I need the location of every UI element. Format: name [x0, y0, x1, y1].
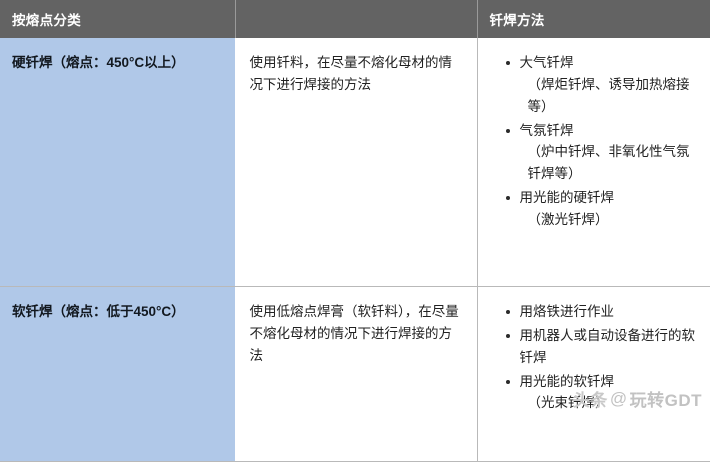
column-header-description: [235, 0, 477, 38]
table-header: 按熔点分类 钎焊方法: [0, 0, 710, 38]
method-main: 用烙铁进行作业: [520, 304, 615, 319]
table-row: 硬钎焊（熔点：450°C以上） 使用钎料，在尽量不熔化母材的情况下进行焊接的方法…: [0, 38, 710, 287]
cell-category: 硬钎焊（熔点：450°C以上）: [0, 38, 235, 287]
list-item: 用光能的硬钎焊 （激光钎焊）: [506, 187, 703, 231]
method-sub: （激光钎焊）: [520, 209, 703, 231]
column-header-method: 钎焊方法: [477, 0, 710, 38]
cell-methods: 大气钎焊 （焊炬钎焊、诱导加热熔接等） 气氛钎焊 （炉中钎焊、非氧化性气氛钎焊等…: [477, 38, 710, 287]
method-list: 大气钎焊 （焊炬钎焊、诱导加热熔接等） 气氛钎焊 （炉中钎焊、非氧化性气氛钎焊等…: [484, 52, 703, 231]
table-body: 硬钎焊（熔点：450°C以上） 使用钎料，在尽量不熔化母材的情况下进行焊接的方法…: [0, 38, 710, 462]
method-main: 用机器人或自动设备进行的软钎焊: [520, 328, 696, 365]
method-main: 气氛钎焊: [520, 123, 574, 138]
method-sub: （炉中钎焊、非氧化性气氛钎焊等）: [520, 141, 703, 185]
column-header-category: 按熔点分类: [0, 0, 235, 38]
method-main: 用光能的软钎焊: [520, 374, 615, 389]
table-header-row: 按熔点分类 钎焊方法: [0, 0, 710, 38]
method-main: 大气钎焊: [520, 55, 574, 70]
method-main: 用光能的硬钎焊: [520, 190, 615, 205]
table-row: 软钎焊（熔点：低于450°C） 使用低熔点焊膏（软钎料），在尽量不熔化母材的情况…: [0, 287, 710, 462]
list-item: 大气钎焊 （焊炬钎焊、诱导加热熔接等）: [506, 52, 703, 118]
list-item: 用烙铁进行作业: [506, 301, 703, 323]
method-list: 用烙铁进行作业 用机器人或自动设备进行的软钎焊 用光能的软钎焊 （光束钎焊）: [484, 301, 703, 414]
list-item: 用机器人或自动设备进行的软钎焊: [506, 325, 703, 369]
method-sub: （光束钎焊）: [520, 392, 703, 414]
cell-category: 软钎焊（熔点：低于450°C）: [0, 287, 235, 462]
cell-description: 使用低熔点焊膏（软钎料），在尽量不熔化母材的情况下进行焊接的方法: [235, 287, 477, 462]
document-root: 按熔点分类 钎焊方法 硬钎焊（熔点：450°C以上） 使用钎料，在尽量不熔化母材…: [0, 0, 710, 415]
list-item: 用光能的软钎焊 （光束钎焊）: [506, 371, 703, 415]
cell-description: 使用钎料，在尽量不熔化母材的情况下进行焊接的方法: [235, 38, 477, 287]
cell-methods: 用烙铁进行作业 用机器人或自动设备进行的软钎焊 用光能的软钎焊 （光束钎焊）: [477, 287, 710, 462]
method-sub: （焊炬钎焊、诱导加热熔接等）: [520, 74, 703, 118]
brazing-classification-table: 按熔点分类 钎焊方法 硬钎焊（熔点：450°C以上） 使用钎料，在尽量不熔化母材…: [0, 0, 710, 462]
list-item: 气氛钎焊 （炉中钎焊、非氧化性气氛钎焊等）: [506, 120, 703, 186]
